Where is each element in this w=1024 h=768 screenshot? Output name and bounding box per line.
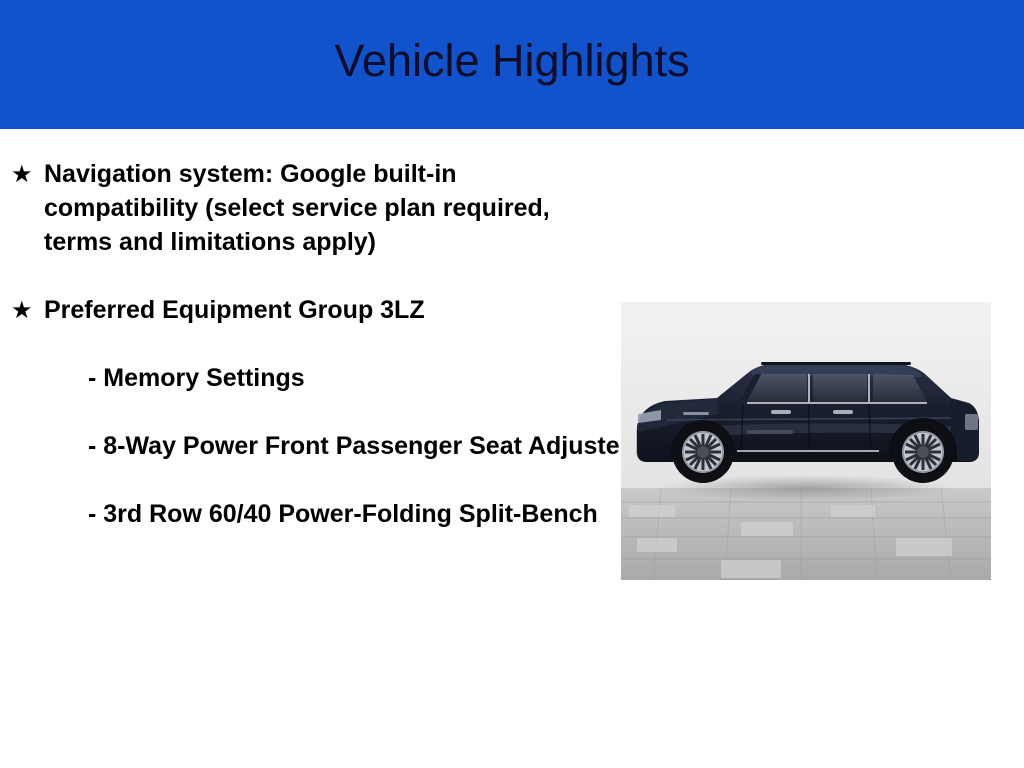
bullet-text: Navigation system: Google built-in compa… — [44, 157, 600, 259]
slide-content: ★ Navigation system: Google built-in com… — [0, 129, 1024, 768]
highlights-list: ★ Navigation system: Google built-in com… — [0, 157, 600, 531]
star-icon: ★ — [11, 293, 33, 327]
vehicle-side-profile-image — [621, 302, 991, 580]
header-banner: Vehicle Highlights — [0, 0, 1024, 129]
list-item: ★ Navigation system: Google built-in com… — [0, 157, 600, 259]
sub-list-item: - 3rd Row 60/40 Power-Folding Split-Benc… — [44, 497, 668, 531]
bullet-text: Preferred Equipment Group 3LZ — [44, 293, 600, 327]
sub-list-item: - Memory Settings — [44, 361, 668, 395]
sub-item-list: - Memory Settings - 8-Way Power Front Pa… — [44, 361, 600, 531]
list-item: ★ Preferred Equipment Group 3LZ - Memory… — [0, 293, 600, 531]
vehicle-photo — [621, 302, 991, 580]
page-title: Vehicle Highlights — [0, 33, 1024, 89]
sub-list-item: - 8-Way Power Front Passenger Seat Adjus… — [44, 429, 668, 463]
star-icon: ★ — [11, 157, 33, 191]
